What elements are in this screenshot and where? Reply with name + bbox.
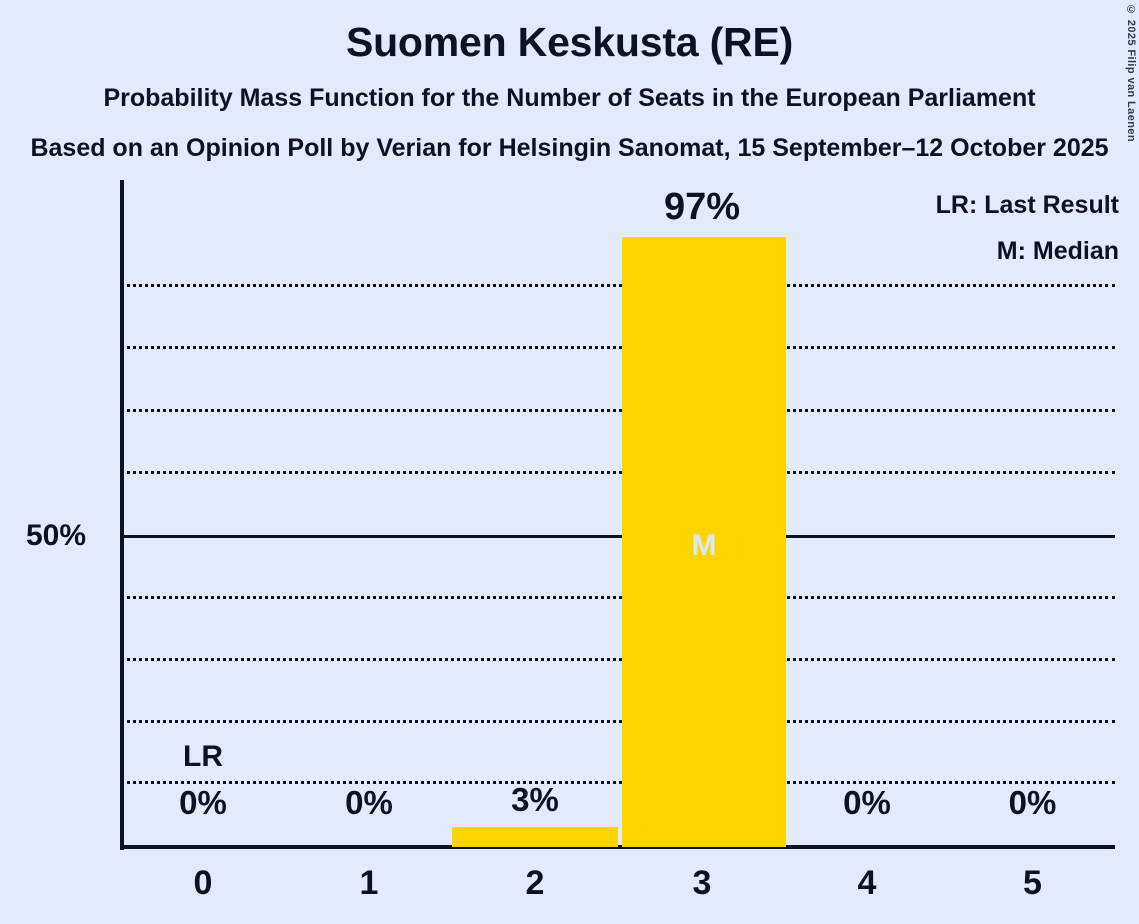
x-axis-tick-label-0: 0 — [120, 866, 286, 900]
x-axis-tick-label-4: 4 — [784, 866, 950, 900]
gridline-80 — [120, 346, 1115, 349]
bar-value-label-3: 97% — [620, 188, 784, 226]
chart-subtitle: Probability Mass Function for the Number… — [0, 86, 1139, 111]
copyright-notice: © 2025 Filip van Laenen — [1125, 4, 1137, 142]
chart-canvas: Suomen Keskusta (RE) Probability Mass Fu… — [0, 0, 1139, 924]
bar-value-label-0: 0% — [120, 786, 286, 819]
gridline-50 — [120, 535, 1115, 538]
x-axis-tick-label-2: 2 — [452, 866, 618, 900]
median-marker: M — [622, 531, 786, 561]
gridline-60 — [120, 471, 1115, 474]
last-result-marker: LR — [120, 742, 286, 772]
bar-value-label-1: 0% — [286, 786, 452, 819]
bar-value-label-2: 3% — [452, 783, 618, 816]
x-axis-tick-label-1: 1 — [286, 866, 452, 900]
x-axis-tick-label-3: 3 — [620, 866, 784, 900]
y-axis-tick-label-50: 50% — [26, 521, 86, 551]
gridline-20 — [120, 720, 1115, 723]
chart-source-line: Based on an Opinion Poll by Verian for H… — [0, 136, 1139, 161]
bar-value-label-4: 0% — [784, 786, 950, 819]
gridline-30 — [120, 658, 1115, 661]
bar-2[interactable] — [452, 827, 618, 847]
gridline-70 — [120, 409, 1115, 412]
bar-3[interactable]: M — [622, 237, 786, 847]
bar-value-label-5: 0% — [950, 786, 1115, 819]
gridline-90 — [120, 284, 1115, 287]
page-title: Suomen Keskusta (RE) — [0, 22, 1139, 63]
gridline-40 — [120, 596, 1115, 599]
x-axis-tick-label-5: 5 — [950, 866, 1115, 900]
